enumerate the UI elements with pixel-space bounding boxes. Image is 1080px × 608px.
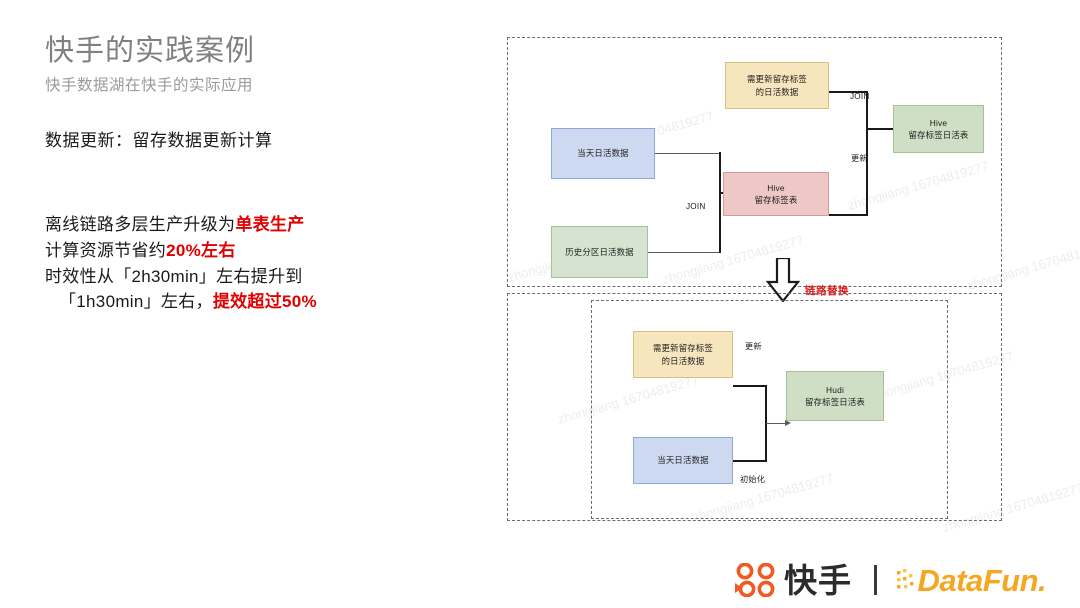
bullet-1-highlight: 单表生产 [235, 215, 304, 234]
edge-vertical-lower [765, 385, 767, 462]
edge-junction-to-hive-tag [719, 192, 749, 194]
edge-label-update-lower: 更新 [745, 340, 762, 352]
node-label: 需更新留存标签 的日活数据 [747, 73, 807, 97]
node-label: 需更新留存标签 的日活数据 [653, 342, 713, 366]
section-heading: 数据更新：留存数据更新计算 [45, 126, 273, 151]
edge-need-update-to-junction [828, 91, 868, 93]
edge-label-join-right: JOIN [850, 92, 869, 101]
node-label-line2: 留存标签日活表 [805, 396, 865, 408]
node-history-dau[interactable]: 历史分区日活数据 [551, 226, 648, 278]
lower-panel-inner-boundary [591, 300, 948, 519]
bullet-2-highlight: 20%左右 [166, 241, 236, 260]
edge-history-to-junction [648, 252, 720, 253]
edge-today-dau-to-junction-lower [733, 460, 766, 462]
watermark: zhongjiang 16704819277 [966, 238, 1080, 293]
bullet-1-text: 离线链路多层生产升级为 [45, 215, 235, 234]
arrowhead-icon [893, 125, 900, 133]
kuaishou-logo: 快手 [735, 563, 852, 597]
node-need-update-lower[interactable]: 需更新留存标签 的日活数据 [633, 331, 733, 378]
watermark: zhongjiang 16704819277 [846, 158, 991, 213]
bullet-line-1: 离线链路多层生产升级为单表生产 [45, 212, 465, 238]
bullet-4-text: 「1h30min」左右， [59, 292, 213, 311]
node-label-line2: 留存标签日活表 [908, 129, 968, 141]
node-label: 历史分区日活数据 [565, 246, 634, 258]
page-title: 快手的实践案例 [45, 34, 465, 69]
watermark: zhongjiang 16704819277 [871, 348, 1016, 403]
edge-today-to-junction [655, 153, 720, 154]
bullet-line-3: 时效性从「2h30min」左右提升到 [45, 264, 465, 290]
watermark: zhongjiang 16704819277 [691, 470, 836, 525]
edge-join-vertical-left [719, 152, 721, 253]
bullet-4-highlight: 提效超过50% [213, 292, 317, 311]
node-label-line1: Hive [930, 117, 948, 129]
node-label-line1: Hudi [826, 384, 844, 396]
watermark: zhongjiang 16704819277 [661, 232, 806, 287]
edge-label-join-left: JOIN [686, 202, 705, 211]
edge-need-update-to-junction-lower [733, 385, 766, 387]
edge-label-init: 初始化 [740, 473, 765, 485]
bullet-line-2: 计算资源节省约20%左右 [45, 238, 465, 264]
datafun-wordmark: DataFun. [918, 565, 1047, 596]
edge-junction-to-hudi [766, 423, 786, 424]
node-label-line2: 留存标签表 [755, 194, 798, 206]
transition-label: 链路替换 [805, 283, 849, 298]
arrowhead-icon [785, 420, 791, 426]
arrowhead-icon [748, 189, 755, 197]
slide-header: 快手的实践案例 快手数据湖在快手的实际应用 [45, 34, 465, 95]
lower-panel-boundary [507, 293, 1002, 521]
page-subtitle: 快手数据湖在快手的实际应用 [45, 73, 465, 95]
bullet-list: 离线链路多层生产升级为单表生产 计算资源节省约20%左右 时效性从「2h30mi… [45, 212, 465, 315]
datafun-logo: DataFun. [897, 565, 1047, 596]
node-hudi-table[interactable]: Hudi 留存标签日活表 [786, 371, 884, 421]
node-need-update-upper[interactable]: 需更新留存标签 的日活数据 [725, 62, 829, 109]
datafun-logo-icon [897, 568, 917, 592]
watermark: zhongjiang 16704819277 [556, 372, 701, 427]
node-today-dau-upper[interactable]: 当天日活数据 [551, 128, 655, 179]
watermark: zhongjiang 16704819277 [571, 108, 716, 163]
edge-junction-to-hive-dau [866, 128, 894, 130]
watermark: zhongjiang 16704819277 [941, 480, 1080, 535]
watermark: zhongjiang 16704819277 [506, 230, 651, 285]
edge-hive-tag-to-junction [828, 214, 868, 216]
bullet-3-text: 时效性从「2h30min」左右提升到 [45, 267, 303, 286]
bullet-2-text: 计算资源节省约 [45, 241, 166, 260]
node-hive-dau-table[interactable]: Hive 留存标签日活表 [893, 105, 984, 153]
node-hive-tag-table[interactable]: Hive 留存标签表 [723, 172, 829, 216]
edge-label-update-upper: 更新 [851, 152, 868, 164]
bullet-line-4: 「1h30min」左右，提效超过50% [45, 289, 465, 315]
kuaishou-logo-icon [735, 563, 779, 597]
footer-divider [874, 565, 877, 595]
upper-panel-boundary [507, 37, 1002, 287]
footer-logos: 快手 DataFun. [735, 558, 1046, 602]
down-arrow-icon [765, 258, 801, 302]
node-label: 当天日活数据 [577, 147, 628, 159]
node-label: 当天日活数据 [657, 454, 708, 466]
node-label-line1: Hive [767, 182, 785, 194]
edge-join-vertical-right [866, 91, 868, 215]
node-today-dau-lower[interactable]: 当天日活数据 [633, 437, 733, 484]
kuaishou-wordmark: 快手 [784, 564, 852, 597]
